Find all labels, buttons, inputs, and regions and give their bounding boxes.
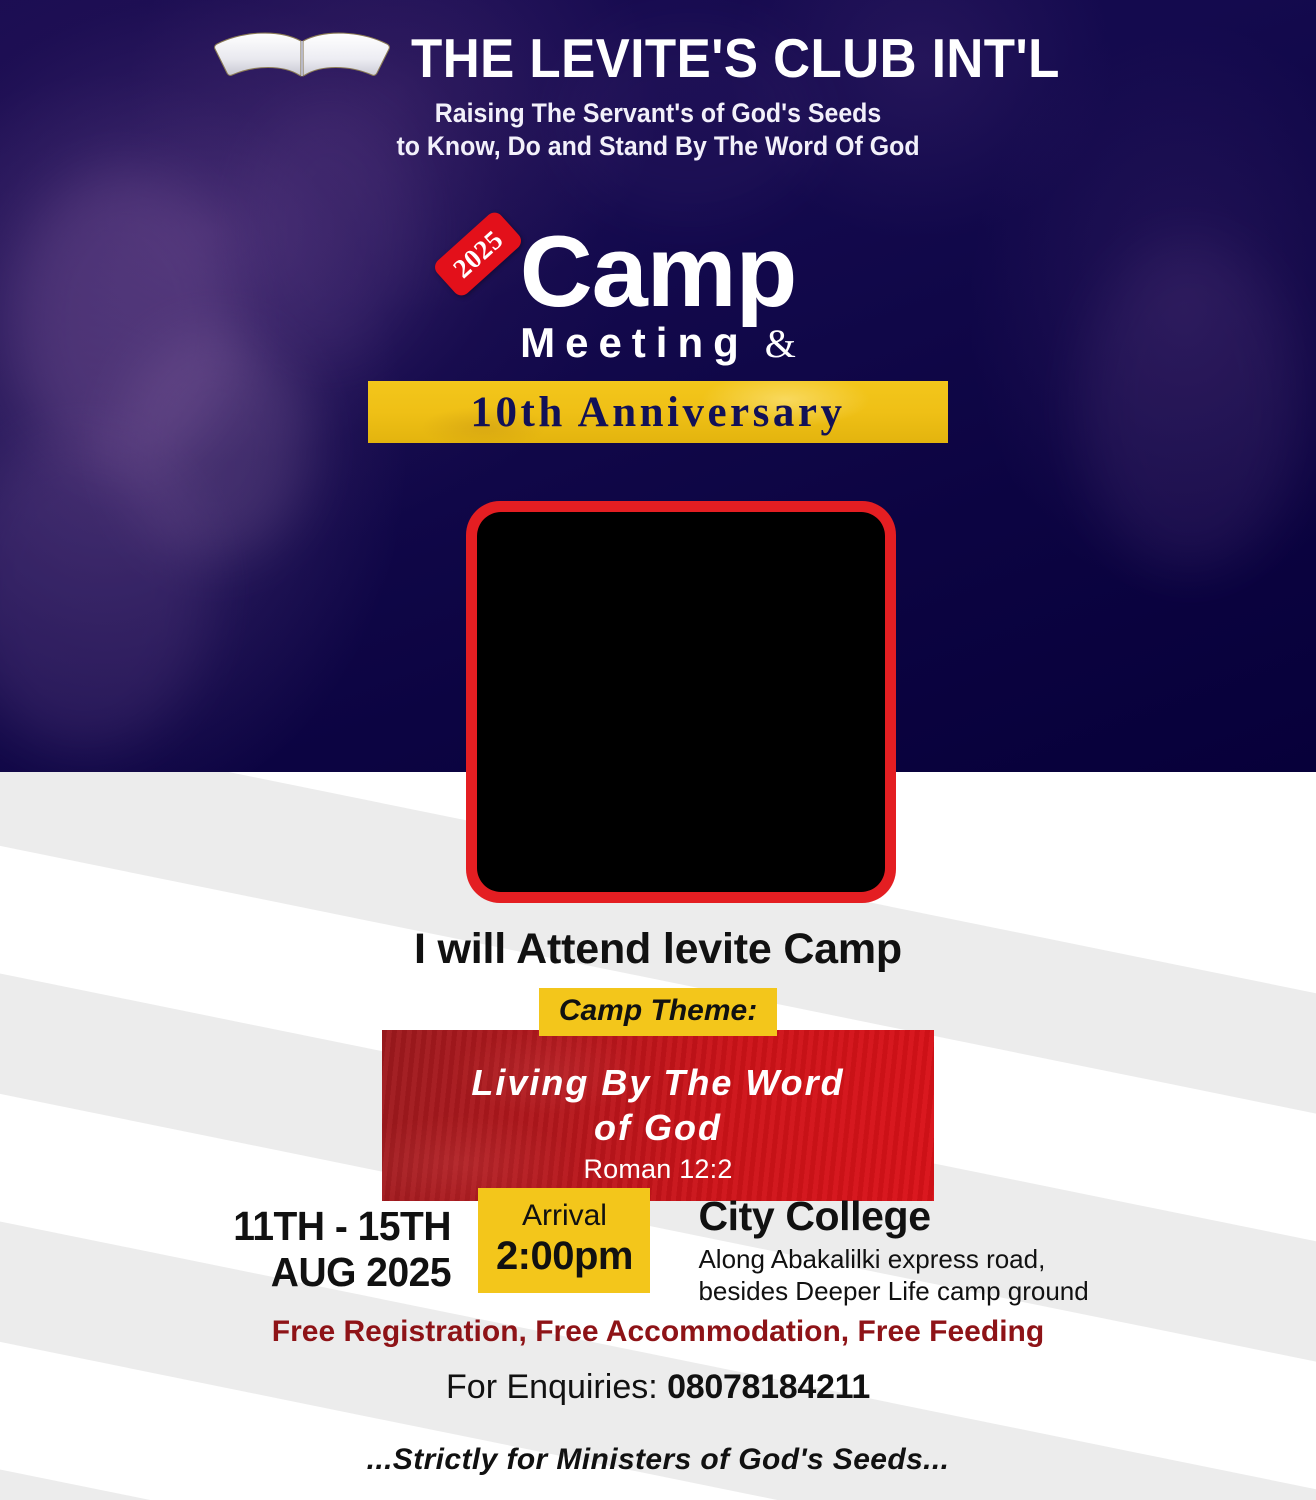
enquiries-line: For Enquiries: 08078184211 <box>0 1368 1316 1407</box>
brand-name: THE LEVITE'S CLUB INT'L <box>411 26 1060 90</box>
open-book-icon <box>207 27 397 89</box>
theme-label: Camp Theme: <box>539 988 777 1036</box>
photo-placeholder <box>477 512 885 892</box>
enquiries-phone[interactable]: 08078184211 <box>667 1368 870 1406</box>
venue-address: Along Abakalilki express road, besides D… <box>698 1243 1088 1308</box>
arrival-time: 2:00pm <box>484 1234 644 1279</box>
strictly-note: ...Strictly for Ministers of God's Seeds… <box>0 1443 1316 1477</box>
camp-title-row: 2025 Camp <box>520 222 797 323</box>
theme-box: Living By The Word of God Roman 12:2 <box>382 1030 934 1201</box>
theme-section: Camp Theme: Living By The Word of God Ro… <box>0 988 1316 1201</box>
brand-row: THE LEVITE'S CLUB INT'L <box>0 26 1316 90</box>
attend-headline: I will Attend levite Camp <box>0 925 1316 974</box>
event-date-line-2: AUG 2025 <box>234 1250 452 1296</box>
photo-frame <box>466 501 896 903</box>
event-date: 11TH - 15TH AUG 2025 <box>234 1188 473 1296</box>
theme-line-2: of God <box>398 1105 918 1150</box>
event-date-line-1: 11TH - 15TH <box>234 1204 452 1250</box>
event-details-row: 11TH - 15TH AUG 2025 Arrival 2:00pm City… <box>0 1188 1316 1308</box>
brand-tagline: Raising The Servant's of God's Seeds to … <box>39 97 1276 164</box>
arrival-label: Arrival <box>484 1199 644 1233</box>
brand-lockup: THE LEVITE'S CLUB INT'L Raising The Serv… <box>0 26 1316 164</box>
anniversary-label: 10th Anniversary <box>471 388 846 437</box>
brand-tagline-line-1: Raising The Servant's of God's Seeds <box>39 97 1276 130</box>
venue-name: City College <box>698 1194 1088 1240</box>
year-badge: 2025 <box>431 209 524 299</box>
year-badge-label: 2025 <box>448 225 508 283</box>
camp-title: Camp <box>520 222 797 323</box>
anniversary-banner: 10th Anniversary <box>368 381 948 443</box>
venue-block: City College Along Abakalilki express ro… <box>650 1188 1088 1308</box>
theme-line-1: Living By The Word <box>398 1060 918 1105</box>
brand-tagline-line-2: to Know, Do and Stand By The Word Of God <box>39 130 1276 163</box>
event-title-block: 2025 Camp Meeting & 10th Anniversary <box>0 222 1316 443</box>
enquiries-label: For Enquiries: <box>446 1368 658 1406</box>
arrival-box: Arrival 2:00pm <box>478 1188 650 1293</box>
free-offerings-line: Free Registration, Free Accommodation, F… <box>0 1315 1316 1349</box>
venue-address-line-1: Along Abakalilki express road, <box>698 1243 1088 1276</box>
venue-address-line-2: besides Deeper Life camp ground <box>698 1275 1088 1308</box>
theme-scripture-reference: Roman 12:2 <box>398 1154 918 1185</box>
flyer-root: THE LEVITE'S CLUB INT'L Raising The Serv… <box>0 0 1316 1500</box>
